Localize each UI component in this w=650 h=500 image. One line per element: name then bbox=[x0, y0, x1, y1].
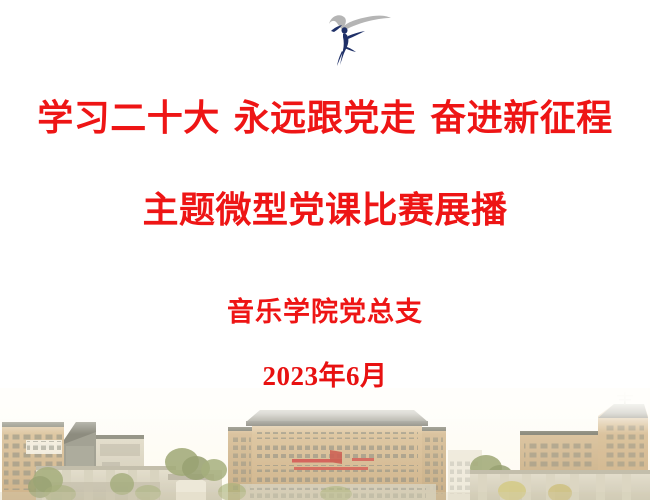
campus-building-panorama bbox=[0, 388, 650, 500]
headline-primary: 学习二十大永远跟党走奋进新征程 bbox=[0, 96, 650, 140]
headline-segment-3: 奋进新征程 bbox=[430, 97, 613, 138]
headline-segment-1: 学习二十大 bbox=[37, 97, 220, 138]
poster-canvas: 学习二十大永远跟党走奋进新征程 主题微型党课比赛展播 音乐学院党总支 2023年… bbox=[0, 0, 650, 500]
headline-segment-2: 永远跟党走 bbox=[234, 97, 417, 138]
poster-text-block: 学习二十大永远跟党走奋进新征程 主题微型党课比赛展播 音乐学院党总支 2023年… bbox=[0, 96, 650, 393]
headline-secondary: 主题微型党课比赛展播 bbox=[0, 188, 650, 232]
dancer-logo bbox=[315, 8, 395, 70]
organization-name: 音乐学院党总支 bbox=[0, 295, 650, 329]
logo-area bbox=[0, 8, 650, 70]
